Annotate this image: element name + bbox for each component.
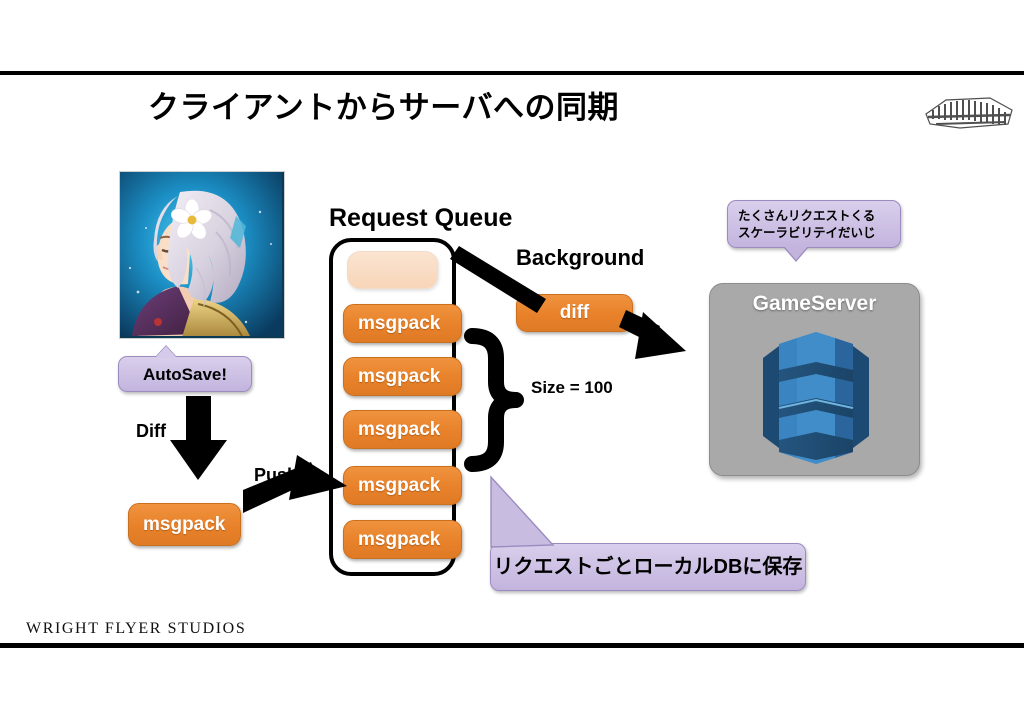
database-barrel-icon	[759, 324, 873, 468]
queue-size-label: Size = 100	[531, 378, 613, 398]
push-arrow-label: Push	[254, 465, 298, 486]
client-msgpack-label: msgpack	[143, 514, 225, 536]
bubble-tail-up-icon	[155, 346, 177, 358]
diff-arrow-label: Diff	[136, 421, 166, 442]
scalability-line1: たくさんリクエストくる	[738, 208, 900, 225]
localdb-callout-bubble: リクエストごとローカルDBに保存	[490, 543, 806, 591]
slide-canvas: クライアントからサーバへの同期 WRIGHT FLYER STUDIOS	[0, 0, 1024, 724]
character-avatar	[119, 171, 285, 339]
queue-item-label: msgpack	[358, 475, 440, 497]
background-label: Background	[516, 245, 644, 271]
page-title: クライアントからサーバへの同期	[148, 82, 619, 127]
queue-item-4[interactable]: msgpack	[343, 466, 462, 505]
queue-item-label: msgpack	[358, 419, 440, 441]
gameserver-panel: GameServer	[709, 283, 920, 476]
client-msgpack-box[interactable]: msgpack	[128, 503, 241, 546]
autosave-callout-bubble: AutoSave!	[118, 356, 252, 392]
localdb-label: リクエストごとローカルDBに保存	[491, 544, 805, 590]
bubble-tail-down-icon	[784, 246, 808, 260]
queue-item-1[interactable]: msgpack	[343, 304, 462, 343]
footer-divider-rule	[0, 643, 1024, 648]
autosave-label: AutoSave!	[119, 357, 251, 392]
header-divider-rule	[0, 71, 1024, 75]
studio-logo: WRIGHT FLYER STUDIOS	[26, 620, 246, 638]
bubble-tail-wedge-icon	[489, 473, 609, 547]
gameserver-title: GameServer	[710, 292, 919, 316]
queue-item-5[interactable]: msgpack	[343, 520, 462, 559]
queue-item-2[interactable]: msgpack	[343, 357, 462, 396]
diff-down-arrow-icon	[170, 396, 227, 480]
queue-size-brace-icon	[472, 336, 516, 464]
queue-item-label: msgpack	[358, 529, 440, 551]
corner-watermark-logo	[916, 84, 1018, 136]
diff-box-label: diff	[560, 302, 590, 324]
queue-item-3[interactable]: msgpack	[343, 410, 462, 449]
request-queue-title: Request Queue	[329, 204, 512, 233]
diff-box[interactable]: diff	[516, 294, 633, 332]
scalability-callout-bubble: たくさんリクエストくる スケーラビリテイだいじ	[727, 200, 901, 248]
queue-item-label: msgpack	[358, 366, 440, 388]
queue-ghost-slot	[347, 251, 438, 289]
queue-item-label: msgpack	[358, 313, 440, 335]
scalability-line2: スケーラビリテイだいじ	[738, 225, 900, 242]
